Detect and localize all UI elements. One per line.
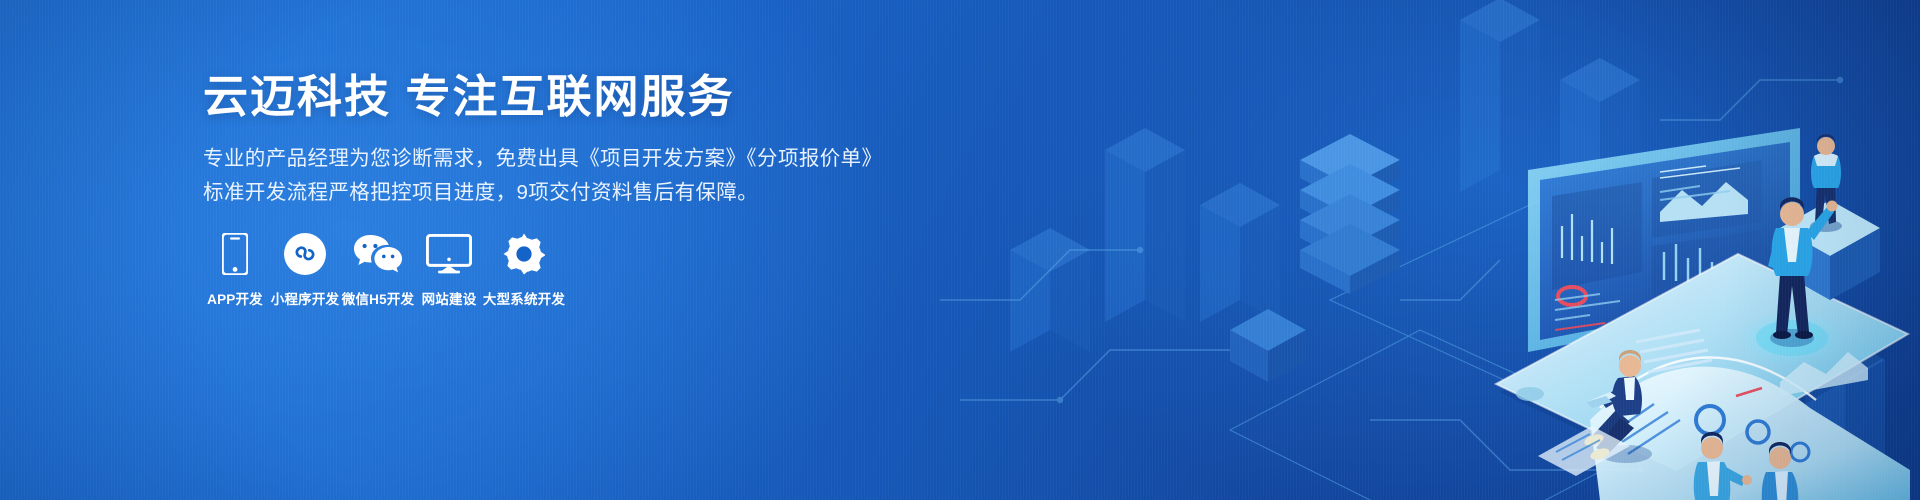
gear-icon [503,231,545,277]
service-list: APP开发 小程序开发 [200,231,524,308]
banner-subtitle: 专业的产品经理为您诊断需求，免费出具《项目开发方案》《分项报价单》 标准开发流程… [203,123,923,210]
server-stack-blocks [1300,134,1400,294]
monitor-icon [426,231,472,277]
banner-copy: 云迈科技 专注互联网服务 专业的产品经理为您诊断需求，免费出具《项目开发方案》《… [203,70,923,210]
service-label: 大型系统开发 [483,292,565,308]
hero-banner: 云迈科技 专注互联网服务 专业的产品经理为您诊断需求，免费出具《项目开发方案》《… [0,0,1920,500]
small-cube [1230,309,1306,382]
mobile-phone-icon [222,231,248,277]
service-label: 小程序开发 [271,292,340,308]
isometric-tech-illustration [900,0,1920,500]
mini-program-icon [284,231,326,277]
service-label: 微信H5开发 [342,292,414,308]
subtitle-line-2: 标准开发流程严格把控项目进度，9项交付资料售后有保障。 [203,176,923,210]
subtitle-line-1: 专业的产品经理为您诊断需求，免费出具《项目开发方案》《分项报价单》 [203,142,923,176]
wechat-icon [352,231,404,277]
service-label: 网站建设 [422,292,477,308]
service-label: APP开发 [207,292,263,308]
page-title: 云迈科技 专注互联网服务 [203,70,923,123]
